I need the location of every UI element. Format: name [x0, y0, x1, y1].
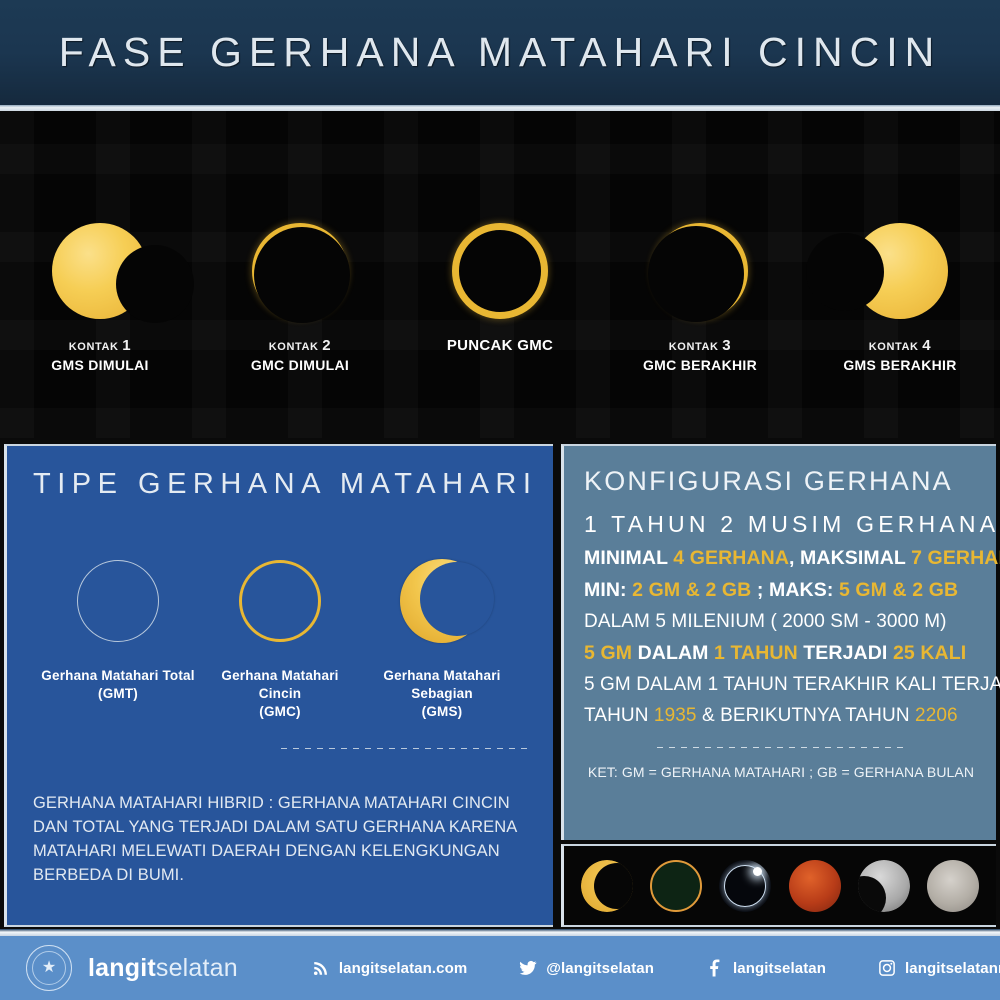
partial-sun-disc-icon — [5, 208, 195, 333]
years-line: TAHUN 1935 & BERIKUTNYA TAHUN 2206 — [584, 705, 978, 727]
instagram-label: langitselatanmedia — [905, 960, 1000, 977]
min-max-eclipses-line: MINIMAL 4 GERHANA, MAKSIMAL 7 GERHANA — [584, 547, 978, 570]
crescent-eclipse-photo — [581, 860, 633, 912]
eclipse-types-panel: TIPE GERHANA MATAHARI Gerhana Matahari T… — [4, 444, 553, 927]
footer-bar: ★ langitselatan langitselatan.com @langi… — [0, 936, 1000, 1000]
configuration-title: KONFIGURASI GERHANA — [584, 466, 978, 497]
occurrence-count-value: 25 KALI — [893, 642, 966, 664]
eclipse-type-item: Gerhana Matahari Cincin (GMC) — [201, 545, 359, 722]
full-moon-photo — [927, 860, 979, 912]
phase-sub-label: GMC BERAKHIR — [605, 357, 795, 373]
phase-kontak-number: 3 — [722, 337, 731, 354]
page-title: FASE GERHANA MATAHARI CINCIN — [59, 29, 941, 76]
langitselatan-seal-icon: ★ — [26, 945, 72, 991]
eclipse-type-label: Gerhana Matahari Cincin (GMC) — [201, 667, 359, 722]
eclipse-type-label: Gerhana Matahari Sebagian (GMS) — [363, 667, 521, 722]
total-eclipse-corona-photo — [719, 860, 771, 912]
min-eclipse-value: 4 GERHANA — [673, 547, 789, 569]
phase-sub-label: GMS BERAKHIR — [805, 357, 995, 373]
website-link[interactable]: langitselatan.com — [312, 959, 467, 977]
annular-ring-icon — [205, 208, 395, 333]
phase-item: PUNCAK GMC — [405, 208, 595, 354]
hybrid-eclipse-description: GERHANA MATAHARI HIBRID : GERHANA MATAHA… — [33, 791, 527, 888]
social-links: langitselatan.com @langitselatan langits… — [312, 959, 1000, 977]
eclipse-types-row: Gerhana Matahari Total (GMT) Gerhana Mat… — [33, 545, 527, 722]
phase-kontak-label: KONTAK 3 — [605, 337, 795, 354]
phase-kontak-label: KONTAK 4 — [805, 337, 995, 354]
max-eclipse-value: 7 GERHANA — [911, 547, 1000, 569]
eclipse-type-label: Gerhana Matahari Total (GMT) — [39, 667, 197, 703]
instagram-icon — [878, 959, 896, 977]
dashed-divider — [657, 747, 905, 748]
annular-ring-peak-icon — [405, 208, 595, 333]
eclipse-photo-strip — [561, 844, 996, 927]
eclipse-types-title: TIPE GERHANA MATAHARI — [33, 468, 527, 501]
total-eclipse-circle-icon — [39, 545, 197, 657]
annular-ring-icon — [605, 208, 795, 333]
partial-sun-disc-icon — [805, 208, 995, 333]
partial-eclipse-crescent-icon — [363, 545, 521, 657]
twitter-icon — [519, 959, 537, 977]
milenium-line: DALAM 5 MILENIUM ( 2000 SM - 3000 M) — [584, 611, 978, 633]
eclipse-configuration-panel: KONFIGURASI GERHANA 1 TAHUN 2 MUSIM GERH… — [561, 444, 996, 840]
dashed-divider — [281, 748, 527, 749]
five-gm-value: 5 GM — [584, 642, 632, 664]
one-year-value: 1 TAHUN — [714, 642, 798, 664]
phase-kontak-number: 4 — [922, 337, 931, 354]
eclipse-type-item: Gerhana Matahari Sebagian (GMS) — [363, 545, 521, 722]
annular-eclipse-ring-icon — [201, 545, 359, 657]
annular-eclipse-photo — [650, 860, 702, 912]
legend-line: KET: GM = GERHANA MATAHARI ; GB = GERHAN… — [584, 764, 978, 780]
blood-moon-photo — [789, 860, 841, 912]
phase-kontak-label: PUNCAK GMC — [405, 337, 595, 354]
footer-divider — [0, 929, 1000, 936]
maks-gm-gb-value: 5 GM & 2 GB — [839, 579, 958, 601]
next-year-value: 2206 — [915, 705, 958, 726]
phase-kontak-number: 1 — [122, 337, 131, 354]
min-gm-gb-value: 2 GM & 2 GB — [632, 579, 751, 601]
website-label: langitselatan.com — [339, 960, 467, 977]
brand-name: langitselatan — [88, 954, 238, 983]
eclipse-phases-section: KONTAK 1 GMS DIMULAI KONTAK 2 GMC DIMULA… — [0, 111, 1000, 438]
last-year-value: 1935 — [654, 705, 697, 726]
twitter-link[interactable]: @langitselatan — [519, 959, 654, 977]
phase-item: KONTAK 1 GMS DIMULAI — [5, 208, 195, 373]
eclipse-type-item: Gerhana Matahari Total (GMT) — [39, 545, 197, 722]
phase-kontak-label: KONTAK 2 — [205, 337, 395, 354]
min-maks-gm-gb-line: MIN: 2 GM & 2 GB ; MAKS: 5 GM & 2 GB — [584, 579, 978, 602]
phase-item: KONTAK 4 GMS BERAKHIR — [805, 208, 995, 373]
facebook-label: langitselatan — [733, 960, 826, 977]
phase-item: KONTAK 2 GMC DIMULAI — [205, 208, 395, 373]
season-line: 1 TAHUN 2 MUSIM GERHANA — [584, 511, 978, 538]
brand-logo[interactable]: ★ langitselatan — [26, 945, 238, 991]
phase-sub-label: GMS DIMULAI — [5, 357, 195, 373]
phase-kontak-label: KONTAK 1 — [5, 337, 195, 354]
infographic-root: FASE GERHANA MATAHARI CINCIN KONTAK 1 GM… — [0, 0, 1000, 1000]
phase-sub-label: GMC DIMULAI — [205, 357, 395, 373]
instagram-link[interactable]: langitselatanmedia — [878, 959, 1000, 977]
phase-kontak-number: 2 — [322, 337, 331, 354]
phase-item: KONTAK 3 GMC BERAKHIR — [605, 208, 795, 373]
facebook-icon — [706, 959, 724, 977]
rss-icon — [312, 959, 330, 977]
twitter-label: @langitselatan — [546, 960, 654, 977]
header-banner: FASE GERHANA MATAHARI CINCIN — [0, 0, 1000, 105]
five-gm-frequency-line: 5 GM DALAM 1 TAHUN TERJADI 25 KALI — [584, 642, 978, 665]
last-occurrence-line: 5 GM DALAM 1 TAHUN TERAKHIR KALI TERJADI — [584, 674, 978, 696]
partial-lunar-eclipse-photo — [858, 860, 910, 912]
facebook-link[interactable]: langitselatan — [706, 959, 826, 977]
